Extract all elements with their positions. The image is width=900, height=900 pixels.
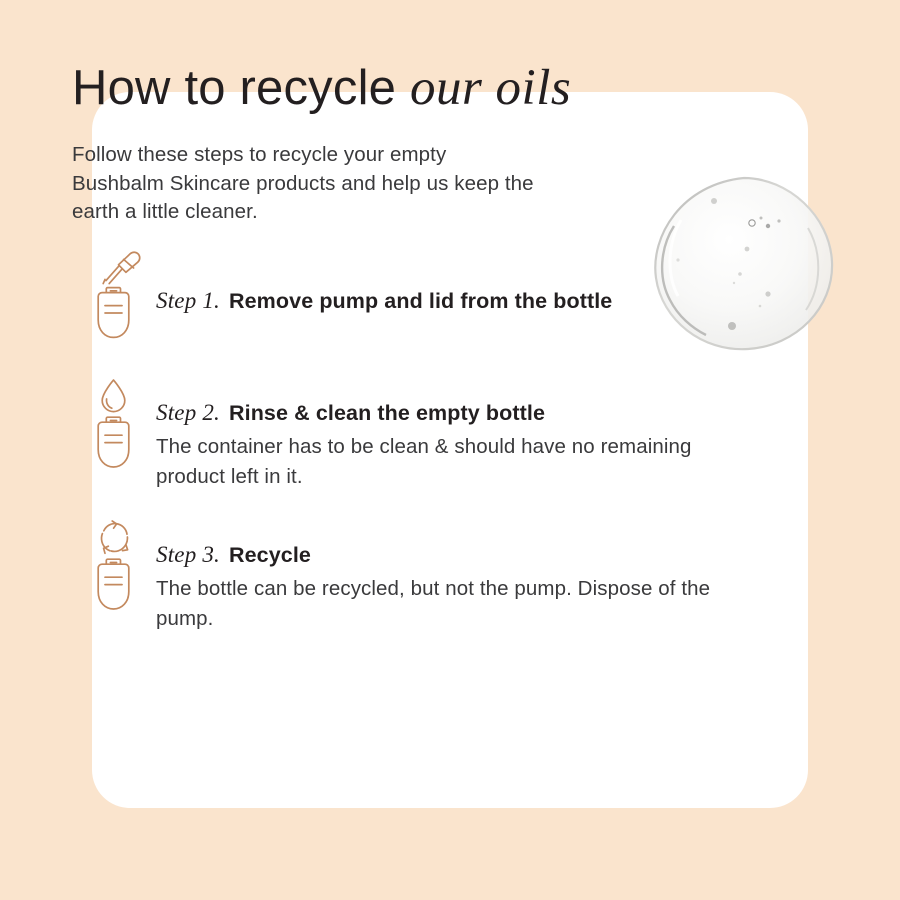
step-heading: Recycle (229, 543, 311, 567)
step-title: Step 1.Remove pump and lid from the bott… (156, 286, 712, 316)
step-text: Step 3.Recycle The bottle can be recycle… (156, 516, 712, 634)
page-title-regular: How to recycle (72, 61, 396, 115)
step-description: The bottle can be recycled, but not the … (156, 574, 712, 634)
step-description: The container has to be clean & should h… (156, 432, 712, 492)
step-text: Step 1.Remove pump and lid from the bott… (156, 248, 712, 316)
step-label: Step 3. (156, 542, 220, 567)
water-droplet-bottle-icon (72, 374, 156, 476)
step-item: Step 3.Recycle The bottle can be recycle… (72, 516, 712, 634)
step-title: Step 3.Recycle (156, 540, 712, 570)
steps-list: Step 1.Remove pump and lid from the bott… (72, 248, 712, 634)
step-label: Step 1. (156, 288, 220, 313)
step-item: Step 1.Remove pump and lid from the bott… (72, 248, 712, 350)
step-heading: Rinse & clean the empty bottle (229, 401, 545, 425)
step-item: Step 2.Rinse & clean the empty bottle Th… (72, 374, 712, 492)
page-title-italic: our oils (410, 60, 571, 116)
header-block: How to recycle our oils Follow these ste… (72, 60, 672, 227)
page-title: How to recycle our oils (72, 60, 672, 117)
recycle-arrows-bottle-icon (72, 516, 156, 618)
intro-paragraph: Follow these steps to recycle your empty… (72, 141, 542, 227)
dropper-bottle-icon (72, 248, 156, 350)
step-heading: Remove pump and lid from the bottle (229, 289, 612, 313)
step-title: Step 2.Rinse & clean the empty bottle (156, 398, 712, 428)
step-label: Step 2. (156, 400, 220, 425)
step-text: Step 2.Rinse & clean the empty bottle Th… (156, 374, 712, 492)
poster-canvas: How to recycle our oils Follow these ste… (0, 0, 900, 900)
